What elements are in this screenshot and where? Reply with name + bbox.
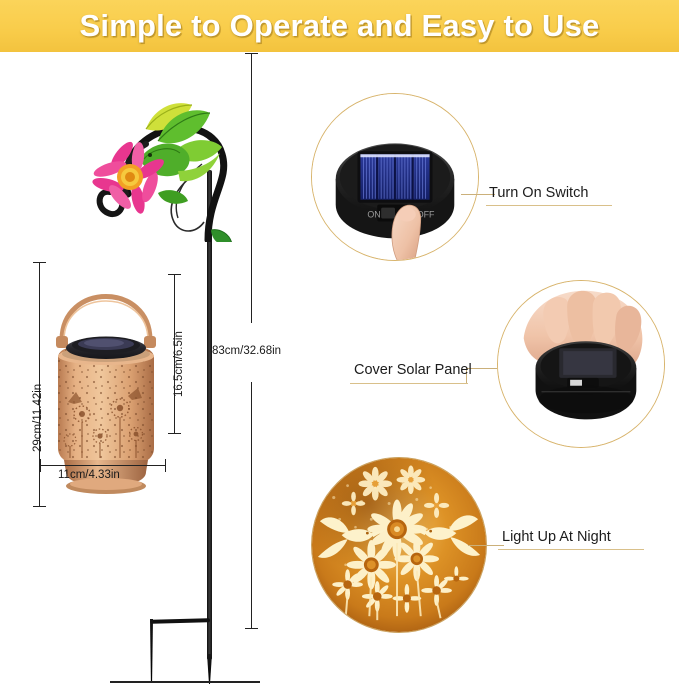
light-up-at-night-underline bbox=[498, 549, 644, 550]
infographic-page: Simple to Operate and Easy to Use bbox=[0, 0, 679, 675]
switch-on-label: ON bbox=[367, 210, 380, 220]
ground-line bbox=[110, 681, 260, 683]
flower-and-bird-decoration bbox=[88, 97, 238, 242]
light-up-at-night-image bbox=[311, 457, 487, 633]
ground-stake-leg-icon bbox=[150, 619, 153, 681]
dim-cap-hook-top bbox=[168, 274, 181, 275]
dim-cap-hook-bottom bbox=[168, 433, 181, 434]
cover-solar-panel-image bbox=[497, 280, 665, 448]
dim-label-lantern-height: 29cm/11.42in bbox=[32, 384, 44, 452]
cover-solar-panel-underline bbox=[350, 383, 468, 384]
product-diagram-panel: 29cm/11.42in 16.5cm/6.5in 83cm/32.68in 1… bbox=[0, 52, 300, 675]
dim-label-lantern-width: 11cm/4.33in bbox=[58, 469, 120, 481]
dim-cap-width-right bbox=[165, 459, 166, 472]
dim-line-total-upper bbox=[251, 53, 252, 323]
turn-on-switch-image: ON OFF bbox=[311, 93, 479, 261]
dim-cap-total-top bbox=[245, 53, 258, 54]
ground-stake-arm-icon bbox=[150, 618, 210, 624]
dim-label-total-height: 83cm/32.68in bbox=[212, 345, 281, 357]
turn-on-switch-label: Turn On Switch bbox=[489, 185, 588, 201]
dim-cap-width-left bbox=[40, 459, 41, 472]
cover-solar-panel-label: Cover Solar Panel bbox=[354, 362, 472, 378]
dim-line-lantern-width bbox=[40, 465, 166, 466]
dim-line-total-lower bbox=[251, 382, 252, 629]
page-title: Simple to Operate and Easy to Use bbox=[80, 8, 600, 44]
dim-label-hook-drop: 16.5cm/6.5in bbox=[173, 331, 185, 397]
dim-cap-bottom bbox=[33, 506, 46, 507]
header-banner: Simple to Operate and Easy to Use bbox=[0, 0, 679, 52]
turn-on-switch-underline bbox=[486, 205, 612, 206]
dim-cap-total-bottom bbox=[245, 628, 258, 629]
light-up-at-night-label: Light Up At Night bbox=[502, 529, 611, 545]
light-up-at-night-leader-line bbox=[468, 545, 504, 546]
pole-tip-icon bbox=[207, 654, 212, 684]
dim-cap-top bbox=[33, 262, 46, 263]
shepherd-hook-pole bbox=[207, 170, 212, 660]
